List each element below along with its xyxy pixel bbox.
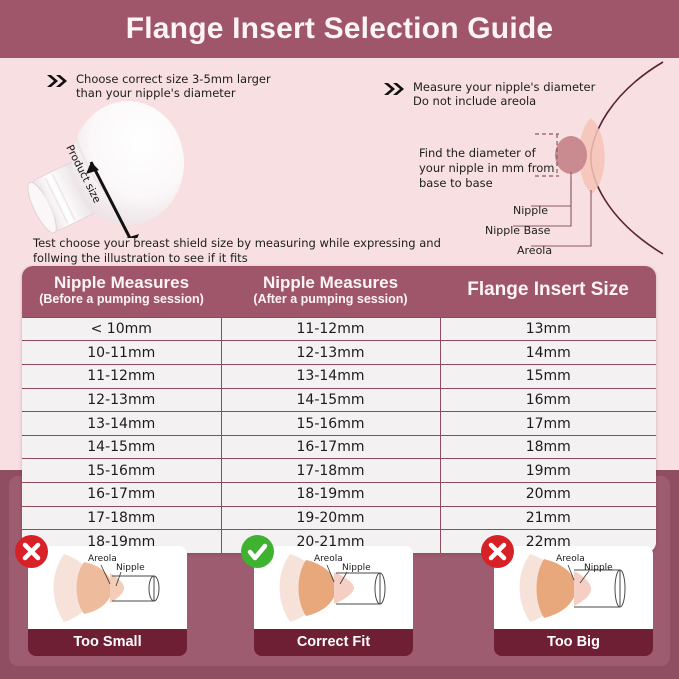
header-sub: (Before a pumping session) (26, 293, 217, 307)
svg-text:Areola: Areola (314, 554, 343, 564)
infographic-page: Flange Insert Selection Guide Choose cor… (0, 0, 679, 679)
table-row: 12-13mm14-15mm16mm (22, 388, 656, 412)
fit-card-too-big[interactable]: Areola Nipple Too Big (494, 546, 653, 656)
table-cell: 13-14mm (221, 365, 440, 389)
table-cell: 17mm (440, 412, 656, 436)
double-chevron-right-icon (46, 74, 68, 88)
table-cell: 20mm (440, 483, 656, 507)
find-diameter-line1: Find the diameter of (419, 146, 554, 161)
table-header-after: Nipple Measures (After a pumping session… (221, 266, 440, 317)
find-diameter-line3: base to base (419, 176, 554, 191)
table-row: 10-11mm12-13mm14mm (22, 341, 656, 365)
table-row: 17-18mm19-20mm21mm (22, 506, 656, 530)
table-cell: 16mm (440, 388, 656, 412)
table-cell: 19mm (440, 459, 656, 483)
svg-text:Areola: Areola (88, 554, 117, 564)
fit-illustration-too-big: Areola Nipple (494, 546, 653, 629)
label-areola: Areola (517, 244, 552, 257)
test-note-line1: Test choose your breast shield size by m… (33, 236, 441, 251)
table-cell: 21mm (440, 506, 656, 530)
svg-text:Nipple: Nipple (116, 563, 145, 573)
table-row: 16-17mm18-19mm20mm (22, 483, 656, 507)
table-header-before: Nipple Measures (Before a pumping sessio… (22, 266, 221, 317)
table-cell: 12-13mm (221, 341, 440, 365)
table-cell: 13mm (440, 317, 656, 341)
table-cell: 17-18mm (22, 506, 221, 530)
table-cell: 12-13mm (22, 388, 221, 412)
fit-card-too-small[interactable]: Areola Nipple Too Small (28, 546, 187, 656)
header-main: Flange Insert Size (444, 271, 652, 310)
find-diameter-line2: your nipple in mm from (419, 161, 554, 176)
table-cell: 19-20mm (221, 506, 440, 530)
flange-insert-illustration (18, 98, 218, 238)
fit-label-correct-fit: Correct Fit (254, 629, 413, 656)
flange-size-table: Nipple Measures (Before a pumping sessio… (22, 266, 656, 553)
header-main: Nipple Measures (26, 274, 217, 293)
label-nipple-base: Nipple Base (485, 224, 550, 237)
page-title: Flange Insert Selection Guide (0, 0, 679, 58)
table-cell: 16-17mm (22, 483, 221, 507)
table-cell: 18-19mm (221, 483, 440, 507)
title-banner: Flange Insert Selection Guide (0, 0, 679, 58)
check-icon (241, 535, 274, 568)
table-cell: 14-15mm (22, 435, 221, 459)
test-note: Test choose your breast shield size by m… (33, 236, 441, 266)
header-main: Nipple Measures (225, 274, 436, 293)
fit-label-too-big: Too Big (494, 629, 653, 656)
table-body: < 10mm11-12mm13mm10-11mm12-13mm14mm11-12… (22, 317, 656, 552)
table-cell: 15-16mm (22, 459, 221, 483)
fit-label-too-small: Too Small (28, 629, 187, 656)
table-cell: 18mm (440, 435, 656, 459)
table-row: 11-12mm13-14mm15mm (22, 365, 656, 389)
svg-text:Nipple: Nipple (584, 563, 613, 573)
cross-icon (481, 535, 514, 568)
test-note-line2: follwing the illustration to see if it f… (33, 251, 441, 266)
fit-card-correct-fit[interactable]: Areola Nipple Correct Fit (254, 546, 413, 656)
table-cell: 17-18mm (221, 459, 440, 483)
svg-text:Areola: Areola (556, 554, 585, 564)
table-cell: 14-15mm (221, 388, 440, 412)
find-diameter-note: Find the diameter of your nipple in mm f… (419, 146, 554, 191)
table-cell: < 10mm (22, 317, 221, 341)
table-header-row: Nipple Measures (Before a pumping sessio… (22, 266, 656, 317)
hint-left-line1: Choose correct size 3-5mm larger (76, 72, 271, 86)
fit-illustration-too-small: Areola Nipple (28, 546, 187, 629)
hint-left-text: Choose correct size 3-5mm larger than yo… (76, 72, 271, 100)
table-cell: 11-12mm (221, 317, 440, 341)
table-cell: 16-17mm (221, 435, 440, 459)
table-cell: 15-16mm (221, 412, 440, 436)
svg-text:Nipple: Nipple (342, 563, 371, 573)
table-row: < 10mm11-12mm13mm (22, 317, 656, 341)
table-row: 15-16mm17-18mm19mm (22, 459, 656, 483)
table-row: 14-15mm16-17mm18mm (22, 435, 656, 459)
table-cell: 11-12mm (22, 365, 221, 389)
table-cell: 13-14mm (22, 412, 221, 436)
table-row: 13-14mm15-16mm17mm (22, 412, 656, 436)
cross-icon (15, 535, 48, 568)
table-header-insert-size: Flange Insert Size (440, 266, 656, 317)
hint-left: Choose correct size 3-5mm larger than yo… (46, 72, 271, 100)
table-cell: 14mm (440, 341, 656, 365)
label-nipple: Nipple (513, 204, 548, 217)
table-cell: 15mm (440, 365, 656, 389)
fit-illustration-correct-fit: Areola Nipple (254, 546, 413, 629)
table-cell: 10-11mm (22, 341, 221, 365)
header-sub: (After a pumping session) (225, 293, 436, 307)
